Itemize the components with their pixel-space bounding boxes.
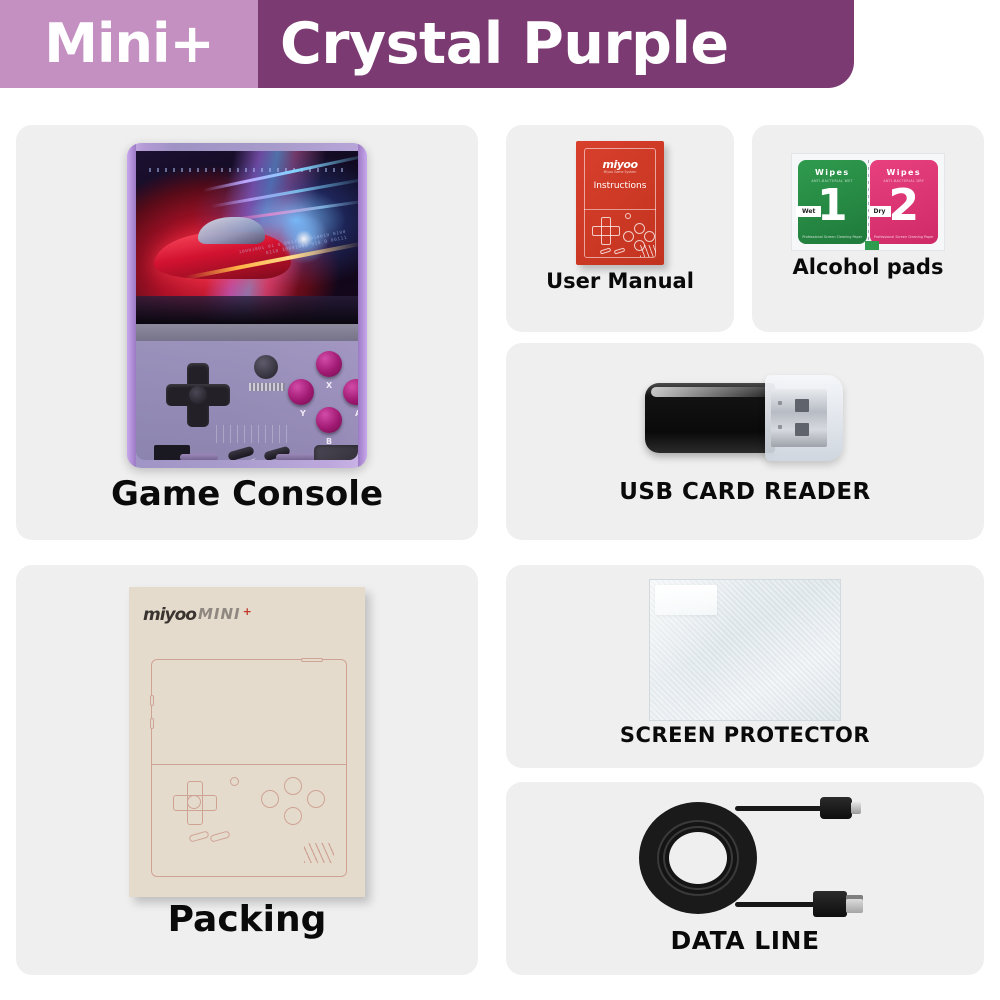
dry-wipe-tag: Dry	[868, 206, 892, 217]
screen-track	[136, 296, 358, 324]
packing-art-side-button	[150, 718, 154, 729]
dpad-hub	[189, 386, 207, 404]
screen-protector-image	[649, 579, 841, 721]
protector-sheen	[650, 580, 840, 720]
console-body: 10001001 01 0 00111 10010010 0100 0110 1…	[127, 143, 367, 468]
manual-brand-subtitle: Miyoo Game System	[576, 170, 664, 174]
wet-wipe-tag: Wet	[796, 206, 821, 217]
screen-car-canopy	[198, 217, 265, 245]
packing-box-image: miyoo MINI +	[129, 587, 365, 897]
analog-stick[interactable]	[254, 355, 278, 379]
cable-lead-top	[735, 806, 825, 811]
manual-dpad-art	[592, 217, 618, 243]
usb-a-connector	[813, 891, 847, 917]
button-x[interactable]	[316, 351, 342, 377]
card-label-usb-card-reader: USB CARD READER	[506, 479, 984, 505]
card-packing[interactable]: miyoo MINI +	[16, 565, 478, 975]
manual-button-art	[623, 231, 634, 242]
screen-dot-row	[149, 168, 344, 172]
button-x-label: X	[326, 381, 332, 390]
console-screen: 10001001 01 0 00111 10010010 0100 0110 1…	[136, 151, 358, 324]
banner-model-text: Mini+	[44, 17, 213, 71]
protector-film	[649, 579, 841, 721]
product-accessories-infographic: Mini+ Crystal Purple 10001001 0	[0, 0, 1000, 1000]
packing-art-dpad-hub	[187, 795, 201, 809]
dry-wipe-footer: Professional Screen Cleaning Paper	[870, 235, 939, 239]
card-label-alcohol-pads: Alcohol pads	[752, 255, 984, 279]
card-label-game-console: Game Console	[16, 474, 478, 514]
alcohol-pads-image: Wipes ANTI-BACTERIAL WET 1 Wet Professio…	[791, 153, 945, 251]
usb-connector-pin	[778, 401, 782, 405]
cable-coil	[639, 802, 757, 914]
button-a[interactable]	[343, 379, 358, 405]
packing-brand-mini: MINI	[198, 605, 241, 623]
packing-box: miyoo MINI +	[129, 587, 365, 897]
pcb-trace	[216, 425, 288, 443]
packing-art-button	[284, 777, 302, 795]
card-game-console[interactable]: 10001001 01 0 00111 10010010 0100 0110 1…	[16, 125, 478, 540]
packing-brand-logo: miyoo MINI +	[143, 605, 252, 625]
console-edge-right	[358, 143, 367, 468]
usb-connector-slot	[795, 423, 809, 436]
packing-art-button	[284, 807, 302, 825]
dry-wipe-packet: Wipes ANTI-BACTERIAL DRY 2 Dry Professio…	[870, 160, 939, 244]
card-label-data-line: DATA LINE	[506, 926, 984, 955]
packing-art-dpad	[173, 781, 215, 823]
wet-wipe-packet: Wipes ANTI-BACTERIAL WET 1 Wet Professio…	[798, 160, 867, 244]
packing-console-line-art	[151, 659, 347, 877]
packing-art-divider	[152, 764, 346, 765]
speaker-grill	[314, 445, 358, 460]
button-b[interactable]	[316, 407, 342, 433]
card-screen-protector[interactable]: SCREEN PROTECTOR	[506, 565, 984, 768]
manual-divider	[584, 209, 656, 210]
card-alcohol-pads[interactable]: Wipes ANTI-BACTERIAL WET 1 Wet Professio…	[752, 125, 984, 332]
button-y-label: Y	[300, 409, 306, 418]
usb-c-connector	[820, 797, 852, 819]
header-banner: Mini+ Crystal Purple	[0, 0, 854, 88]
usb-reader-gloss	[651, 387, 769, 397]
banner-left-section: Mini+	[0, 0, 258, 88]
usb-connector-pin	[778, 425, 782, 429]
manual-button-art	[634, 223, 645, 234]
perforation-line	[868, 160, 869, 244]
packing-art-pill-button	[188, 830, 209, 842]
game-console-image: 10001001 01 0 00111 10010010 0100 0110 1…	[127, 143, 367, 468]
internal-chip-strip	[249, 383, 285, 391]
packing-art-side-button	[150, 695, 154, 706]
banner-variant-text: Crystal Purple	[280, 16, 729, 73]
packing-art-button	[261, 790, 279, 808]
user-manual-image: miyoo Miyoo Game System Instructions	[576, 141, 664, 265]
packing-art-top-button	[301, 658, 323, 662]
console-lower-half: X Y A B SELECT START	[136, 341, 358, 460]
manual-button-art	[644, 231, 655, 242]
bumper-left[interactable]	[180, 454, 218, 460]
console-edge-left	[127, 143, 136, 468]
usb-card-reader-image	[645, 359, 845, 477]
cable-lead-bottom	[735, 902, 819, 907]
card-data-line[interactable]: DATA LINE	[506, 782, 984, 975]
wet-wipe-footer: Professional Screen Cleaning Paper	[798, 235, 867, 239]
button-y[interactable]	[288, 379, 314, 405]
packet-notch	[865, 241, 879, 250]
manual-button-art	[625, 213, 631, 219]
card-label-user-manual: User Manual	[506, 269, 734, 293]
card-label-screen-protector: SCREEN PROTECTOR	[506, 723, 984, 747]
manual-speaker-art	[640, 245, 656, 257]
dry-wipe-title: Wipes	[870, 168, 939, 177]
manual-title: Instructions	[576, 181, 664, 191]
packing-art-pill-button	[210, 830, 231, 842]
packing-art-small-button	[230, 777, 239, 786]
console-hinge	[136, 324, 358, 341]
usb-connector-slot	[795, 399, 809, 412]
packing-brand-miyoo: miyoo	[143, 605, 196, 625]
banner-right-section: Crystal Purple	[258, 0, 854, 88]
card-usb-card-reader[interactable]: USB CARD READER	[506, 343, 984, 540]
manual-cover: miyoo Miyoo Game System Instructions	[576, 141, 664, 265]
packing-art-speaker	[304, 843, 334, 863]
card-label-packing: Packing	[16, 899, 478, 940]
usb-reader-body	[645, 383, 775, 453]
packing-brand-plus: +	[243, 605, 252, 618]
wet-wipe-title: Wipes	[798, 168, 867, 177]
button-a-label: A	[355, 409, 358, 418]
dpad-control[interactable]	[166, 363, 230, 427]
data-line-image	[615, 790, 875, 926]
packing-art-button	[307, 790, 325, 808]
usb-connector	[771, 389, 827, 447]
card-user-manual[interactable]: miyoo Miyoo Game System Instructions Use…	[506, 125, 734, 332]
bumper-right[interactable]	[276, 454, 314, 460]
